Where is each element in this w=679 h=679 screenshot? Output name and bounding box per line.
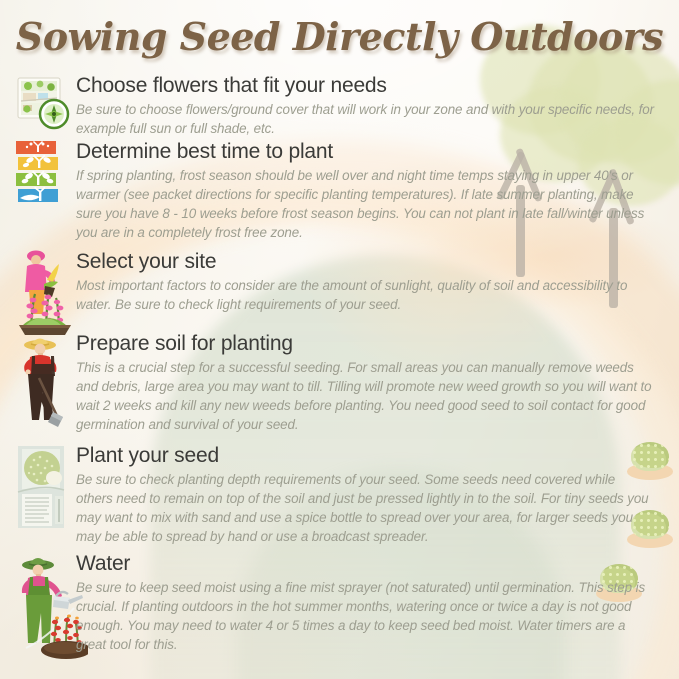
section-body: Be sure to check planting depth requirem…: [76, 470, 654, 546]
section-heading: Select your site: [76, 250, 654, 275]
seed-packet-icon: [14, 444, 76, 530]
section-water: Water Be sure to keep seed moist using a…: [14, 552, 664, 660]
gardener-watering-plants-icon: [14, 552, 76, 660]
four-seasons-icon: [14, 140, 76, 204]
section-body: If spring planting, frost season should …: [76, 166, 654, 242]
section-body: This is a crucial step for a successful …: [76, 358, 654, 434]
section-heading: Choose flowers that fit your needs: [76, 74, 654, 99]
infographic-poster: Sowing Seed Directly Outdoors: [0, 0, 679, 679]
section-determine-time: Determine best time to plant If spring p…: [14, 140, 664, 242]
gardener-with-shovel-icon: [14, 332, 76, 428]
section-heading: Plant your seed: [76, 444, 654, 469]
section-select-site: Select your site Most important factors …: [14, 250, 664, 336]
section-heading: Prepare soil for planting: [76, 332, 654, 357]
section-prepare-soil: Prepare soil for planting This is a cruc…: [14, 332, 664, 434]
section-body: Be sure to choose flowers/ground cover t…: [76, 100, 654, 138]
section-heading: Water: [76, 552, 654, 577]
section-body: Be sure to keep seed moist using a fine …: [76, 578, 654, 654]
section-plant-seed: Plant your seed Be sure to check plantin…: [14, 444, 664, 546]
page-title: Sowing Seed Directly Outdoors: [0, 14, 679, 59]
garden-plan-compass-icon: [14, 74, 76, 132]
gardener-with-flower-planter-icon: [14, 250, 76, 336]
section-body: Most important factors to consider are t…: [76, 276, 654, 314]
section-heading: Determine best time to plant: [76, 140, 654, 165]
section-choose-flowers: Choose flowers that fit your needs Be su…: [14, 74, 664, 138]
